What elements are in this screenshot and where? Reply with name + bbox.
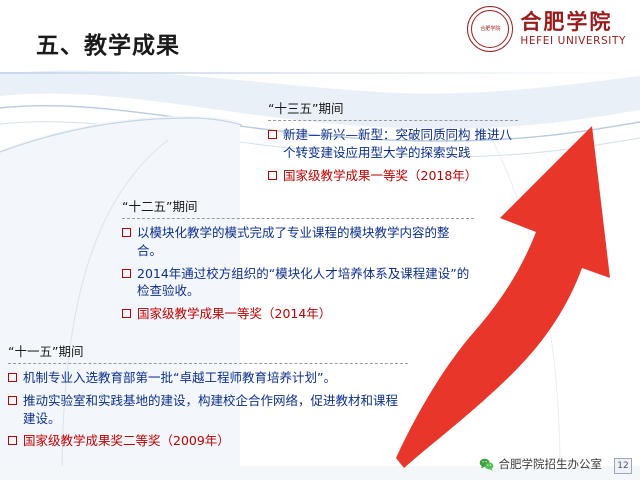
list-item: 国家级教学成果一等奖（2014年） [122,305,474,323]
university-logo: 合肥学院 合肥学院 HEFEI UNIVERSITY [467,6,626,52]
square-bullet-icon [268,130,277,139]
wechat-icon [479,458,494,471]
content-block-1135: “十三五”期间 新建—新兴—新型：突破同质同构 推进八个转变建设应用型大学的探索… [268,98,518,189]
block-divider [122,218,474,219]
list-item-text: 国家级教学成果一等奖（2014年） [137,305,331,323]
footer-label: 合肥学院招生办公室 [499,456,603,472]
block-title: “十三五”期间 [268,98,518,117]
square-bullet-icon [268,171,277,180]
block-title: “十一五”期间 [8,341,408,360]
logo-text: 合肥学院 HEFEI UNIVERSITY [520,12,626,47]
square-bullet-icon [122,309,131,318]
block-title: “十二五”期间 [122,196,474,215]
content-block-1125: “十二五”期间 以模块化教学的模式完成了专业课程的模块教学内容的整合。 2014… [122,196,474,328]
list-item: 国家级教学成果一等奖（2018年） [268,167,518,185]
list-item: 2014年通过校方组织的“模块化人才培养体系及课程建设”的检查验收。 [122,265,474,301]
list-item: 机制专业入选教育部第一批“卓越工程师教育培养计划”。 [8,369,408,387]
page-number: 12 [614,458,632,474]
square-bullet-icon [122,228,131,237]
seal-text: 合肥学院 [480,26,500,32]
list-item: 推动实验室和实践基地的建设，构建校企合作网络，促进教材和课程建设。 [8,392,408,428]
header-divider [0,72,640,74]
content-block-1115: “十一五”期间 机制专业入选教育部第一批“卓越工程师教育培养计划”。 推动实验室… [8,341,408,455]
list-item-text: 以模块化教学的模式完成了专业课程的模块教学内容的整合。 [137,224,474,260]
logo-name-en: HEFEI UNIVERSITY [520,36,626,47]
block-divider [268,120,518,121]
list-item: 以模块化教学的模式完成了专业课程的模块教学内容的整合。 [122,224,474,260]
slide: 五、教学成果 合肥学院 合肥学院 HEFEI UNIVERSITY “十三五”期… [0,0,640,480]
list-item-text: 2014年通过校方组织的“模块化人才培养体系及课程建设”的检查验收。 [137,265,474,301]
square-bullet-icon [122,269,131,278]
list-item-text: 新建—新兴—新型：突破同质同构 推进八个转变建设应用型大学的探索实践 [283,126,518,162]
list-item-text: 推动实验室和实践基地的建设，构建校企合作网络，促进教材和课程建设。 [23,392,408,428]
block-divider [8,363,408,364]
square-bullet-icon [8,373,17,382]
footer-wechat: 合肥学院招生办公室 [479,456,603,472]
list-item-text: 国家级教学成果奖二等奖（2009年） [23,432,230,450]
square-bullet-icon [8,436,17,445]
university-seal-icon: 合肥学院 [467,6,513,52]
list-item: 新建—新兴—新型：突破同质同构 推进八个转变建设应用型大学的探索实践 [268,126,518,162]
list-item-text: 机制专业入选教育部第一批“卓越工程师教育培养计划”。 [23,369,336,387]
list-item: 国家级教学成果奖二等奖（2009年） [8,432,408,450]
page-title: 五、教学成果 [36,26,180,60]
logo-name-cn: 合肥学院 [520,12,626,33]
square-bullet-icon [8,396,17,405]
list-item-text: 国家级教学成果一等奖（2018年） [283,167,477,185]
